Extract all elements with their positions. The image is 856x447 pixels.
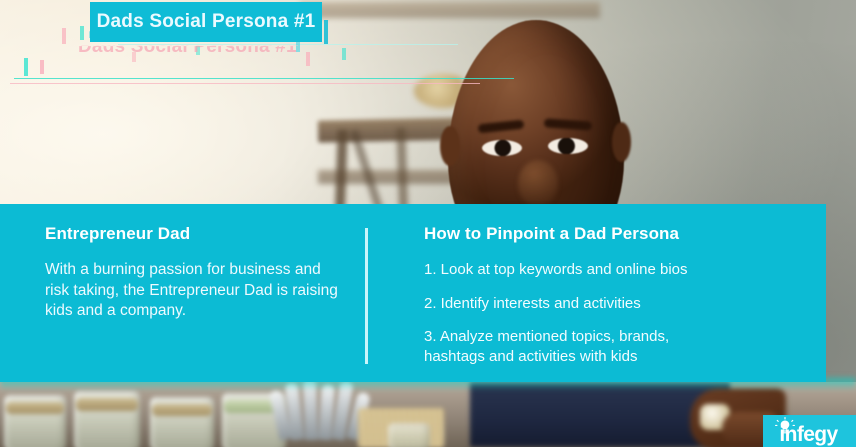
jar-lid <box>76 398 138 411</box>
persona-graphic: Dads Social Persona #1 Dads Social Perso… <box>0 0 856 447</box>
glitch-tick <box>306 52 310 66</box>
glitch-tick <box>342 48 346 60</box>
list-item: 2. Identify interests and activities <box>424 294 804 314</box>
title-banner: Dads Social Persona #1 <box>90 2 322 42</box>
glitch-scanline <box>14 78 514 79</box>
glass-jar <box>388 423 430 447</box>
glitch-tick <box>132 52 136 62</box>
glitch-scanline <box>118 44 458 45</box>
page-title: Dads Social Persona #1 <box>97 11 316 33</box>
howto-heading: How to Pinpoint a Dad Persona <box>424 224 804 244</box>
jar-lid <box>152 404 212 416</box>
content-panel: Entrepreneur Dad With a burning passion … <box>0 204 826 382</box>
infegy-logo[interactable]: infegy <box>763 415 856 447</box>
persona-description: With a burning passion for business and … <box>45 260 345 322</box>
list-item: 1. Look at top keywords and online bios <box>424 260 804 280</box>
list-item: 3. Analyze mentioned topics, brands, has… <box>424 327 804 366</box>
jar-lid <box>6 402 64 414</box>
persona-heading: Entrepreneur Dad <box>45 224 345 244</box>
glitch-tick <box>324 20 328 44</box>
ear-right <box>612 122 631 162</box>
persona-column: Entrepreneur Dad With a burning passion … <box>45 224 345 322</box>
glitch-scanline <box>10 83 480 84</box>
howto-column: How to Pinpoint a Dad Persona 1. Look at… <box>424 224 804 366</box>
glitch-tick <box>24 58 28 76</box>
howto-steps-list: 1. Look at top keywords and online bios … <box>424 260 804 366</box>
nose <box>518 160 558 206</box>
lightbulb-icon <box>775 417 795 437</box>
column-divider <box>365 228 368 364</box>
foreground-counter <box>0 382 856 447</box>
eye-left <box>482 140 522 156</box>
eye-right <box>548 138 588 154</box>
glitch-tick <box>62 28 66 44</box>
glitch-title-group: Dads Social Persona #1 Dads Social Perso… <box>0 0 560 96</box>
counter-blur-layer <box>0 382 856 447</box>
spoon <box>303 382 318 440</box>
glitch-tick <box>196 46 200 55</box>
glitch-tick <box>80 26 84 40</box>
glitch-tick <box>40 60 44 74</box>
ear-left <box>440 126 460 166</box>
